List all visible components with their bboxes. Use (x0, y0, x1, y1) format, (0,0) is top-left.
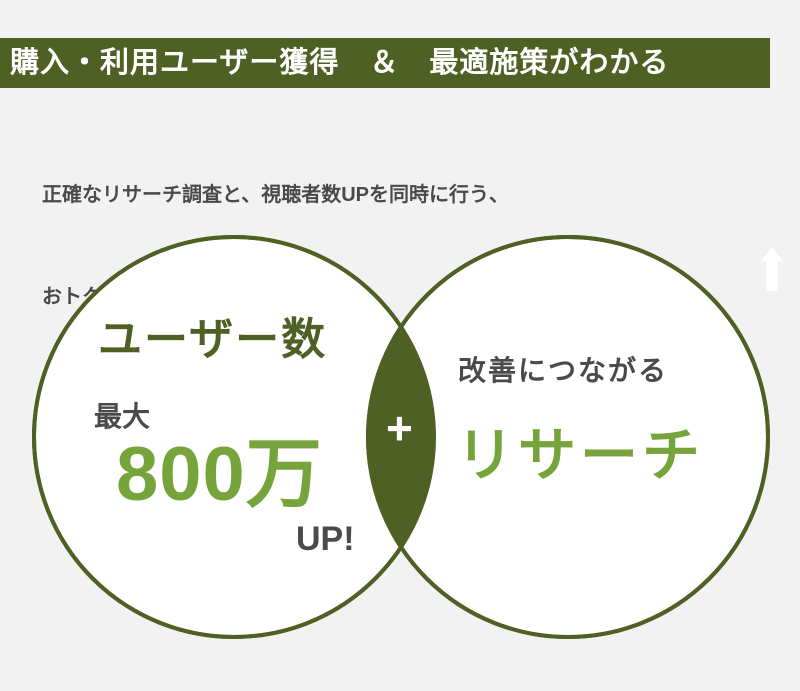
arrow-up-icon (760, 246, 784, 292)
plus-symbol: + (386, 405, 413, 451)
left-circle-heading: ユーザー数 (98, 318, 327, 362)
left-circle-value: 800万 (116, 437, 323, 513)
page-root: 購入・利用ユーザー獲得 ＆ 最適施策がわかる 正確なリサーチ調査と、視聴者数UP… (0, 0, 800, 691)
right-circle-heading: 改善につながる (458, 357, 668, 385)
left-circle-qualifier: 最大 (94, 403, 150, 431)
left-circle-suffix: UP! (296, 522, 355, 556)
right-circle-value: リサーチ (456, 427, 704, 485)
